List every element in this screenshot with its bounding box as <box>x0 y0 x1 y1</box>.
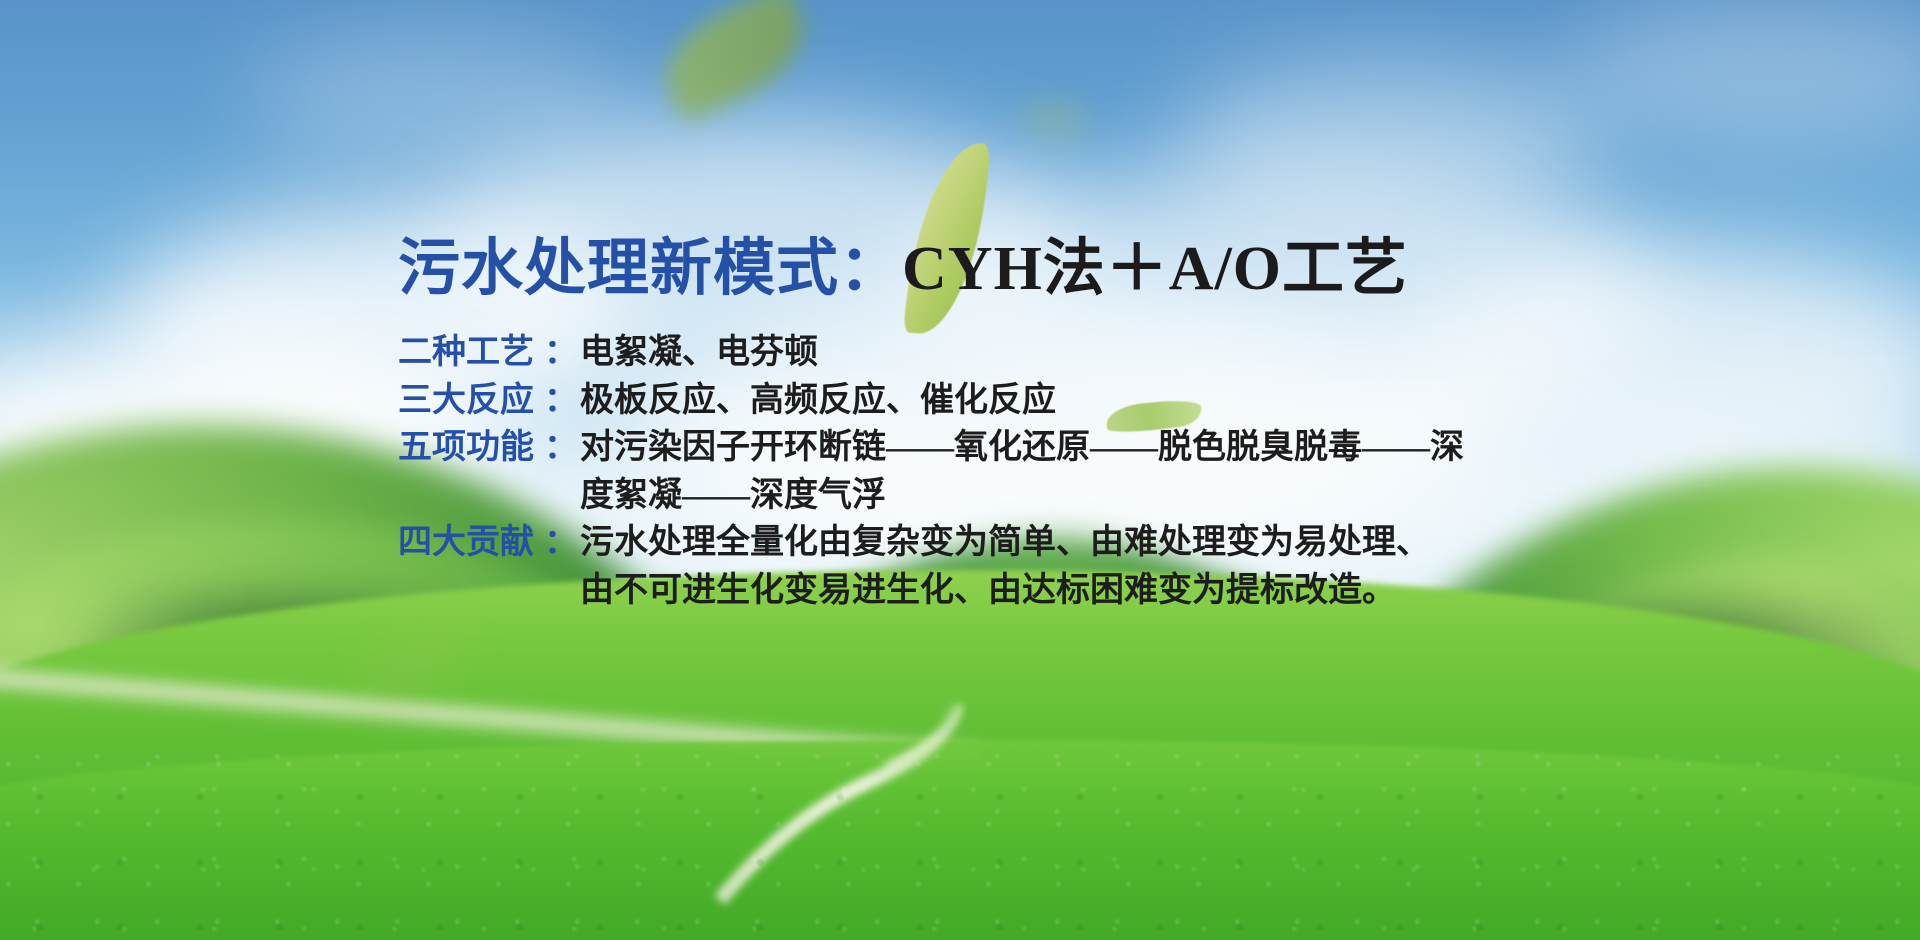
grass-texture-overlay <box>0 740 1920 940</box>
bullet-text-line1: 污水处理全量化由复杂变为简单、由难处理变为易处理、 <box>580 524 1430 561</box>
bullet-label: 三大反应 <box>398 377 544 425</box>
bullet-row: 五项功能 ： 对污染因子开环断链——氧化还原——脱色脱臭脱毒——深 度絮凝——深… <box>398 424 1518 519</box>
bullet-text: 电絮凝、电芬顿 <box>580 329 1518 377</box>
cloud-shape <box>250 30 630 170</box>
cloud-shape <box>1180 60 1600 230</box>
slide-content: 污水处理新模式：CYH法＋A/O工艺 二种工艺 ： 电絮凝、电芬顿 三大反应 ：… <box>398 236 1518 615</box>
bullet-label: 五项功能 <box>398 424 544 472</box>
slide-title-dark-part: CYH法＋A/O工艺 <box>902 235 1408 303</box>
bullet-text: 极板反应、高频反应、催化反应 <box>580 377 1518 425</box>
bullet-text: 对污染因子开环断链——氧化还原——脱色脱臭脱毒——深 度絮凝——深度气浮 <box>580 424 1518 519</box>
bullet-row: 三大反应 ： 极板反应、高频反应、催化反应 <box>398 377 1518 425</box>
bullet-list: 二种工艺 ： 电絮凝、电芬顿 三大反应 ： 极板反应、高频反应、催化反应 五项功… <box>398 329 1518 615</box>
slide-title-blue-part: 污水处理新模式： <box>398 235 902 303</box>
bullet-label: 二种工艺 <box>398 329 544 377</box>
bullet-label: 四大贡献 <box>398 519 544 567</box>
slide-title: 污水处理新模式：CYH法＋A/O工艺 <box>398 236 1518 303</box>
bullet-colon: ： <box>544 519 578 567</box>
bullet-text-continuation: 由不可进生化变易进生化、由达标困难变为提标改造。 <box>580 567 1518 615</box>
bullet-row: 四大贡献 ： 污水处理全量化由复杂变为简单、由难处理变为易处理、 由不可进生化变… <box>398 519 1518 614</box>
bullet-text-continuation: 度絮凝——深度气浮 <box>580 472 1518 520</box>
bullet-text-line1: 对污染因子开环断链——氧化还原——脱色脱臭脱毒——深 <box>580 429 1464 466</box>
bullet-text: 污水处理全量化由复杂变为简单、由难处理变为易处理、 由不可进生化变易进生化、由达… <box>580 519 1518 614</box>
bullet-colon: ： <box>544 329 578 377</box>
bullet-colon: ： <box>544 377 578 425</box>
bullet-colon: ： <box>544 424 578 472</box>
presentation-slide: 污水处理新模式：CYH法＋A/O工艺 二种工艺 ： 电絮凝、电芬顿 三大反应 ：… <box>0 0 1920 940</box>
bullet-row: 二种工艺 ： 电絮凝、电芬顿 <box>398 329 1518 377</box>
